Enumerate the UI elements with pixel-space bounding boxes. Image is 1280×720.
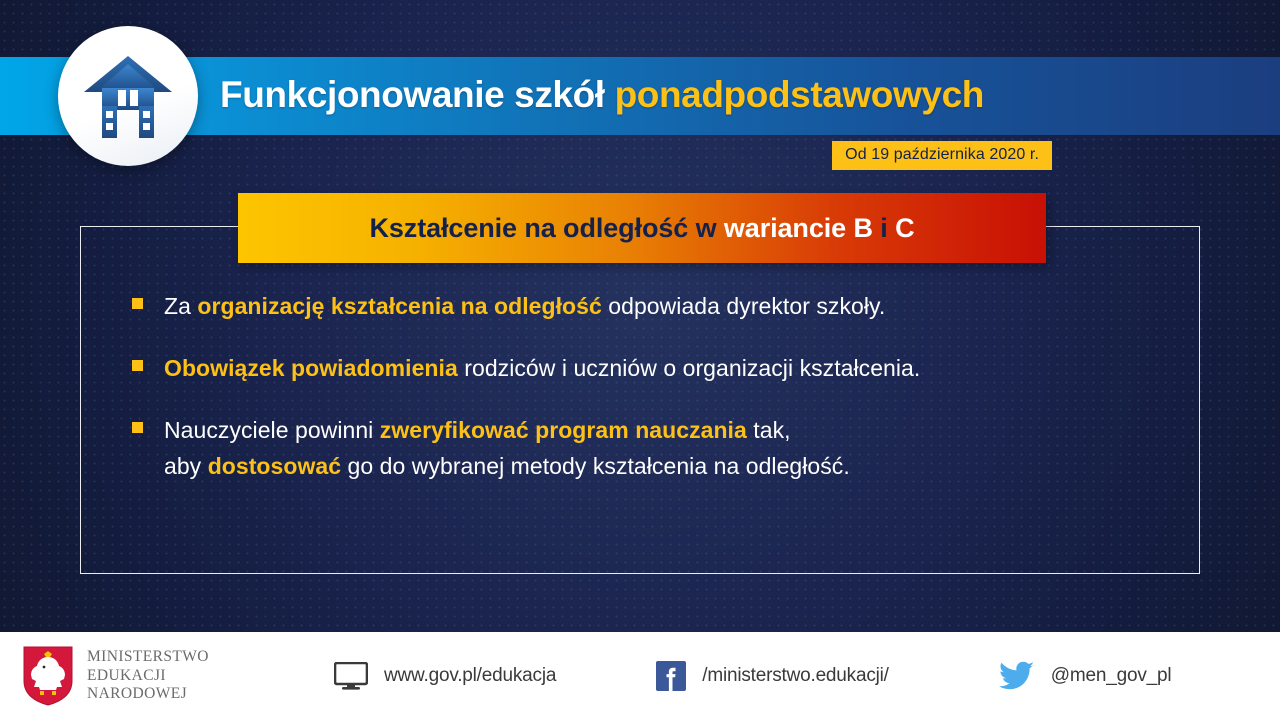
- facebook-icon: [656, 661, 686, 691]
- page-title-main: Funkcjonowanie szkół: [220, 74, 615, 115]
- twitter-icon: [999, 661, 1035, 691]
- bullet-segment: dostosować: [208, 453, 341, 479]
- page-title: Funkcjonowanie szkół ponadpodstawowych: [220, 74, 984, 116]
- subtitle-variant-c: C: [895, 213, 914, 243]
- footer: MINISTERSTWO EDUKACJI NARODOWEJ www.gov.…: [0, 632, 1280, 720]
- bullet-list: Za organizację kształcenia na odległość …: [80, 288, 1200, 510]
- footer-link-twitter-label: @men_gov_pl: [1051, 665, 1172, 687]
- bullet-segment: aby: [164, 453, 208, 479]
- bullet-item: Nauczyciele powinni zweryfikować program…: [132, 412, 1160, 484]
- footer-link-twitter[interactable]: @men_gov_pl: [999, 661, 1172, 691]
- ministry-logo: MINISTERSTWO EDUKACJI NARODOWEJ: [22, 645, 302, 707]
- square-bullet-icon: [132, 360, 143, 371]
- ministry-line-3: NARODOWEJ: [87, 685, 209, 704]
- date-badge: Od 19 października 2020 r.: [832, 141, 1052, 170]
- polish-eagle-coat-of-arms: [22, 645, 74, 707]
- footer-link-website-label: www.gov.pl/edukacja: [384, 665, 556, 687]
- bullet-segment: Obowiązek powiadomienia: [164, 355, 458, 381]
- bullet-segment: Nauczyciele powinni: [164, 417, 380, 443]
- bullet-segment: organizację kształcenia na odległość: [197, 293, 601, 319]
- bullet-text: Za organizację kształcenia na odległość …: [164, 288, 885, 324]
- bullet-segment: Za: [164, 293, 197, 319]
- school-building-icon: [58, 26, 198, 166]
- page-title-accent: ponadpodstawowych: [615, 74, 984, 115]
- footer-link-facebook-label: /ministerstwo.edukacji/: [702, 665, 889, 687]
- bullet-item: Obowiązek powiadomienia rodziców i uczni…: [132, 350, 1160, 386]
- bullet-segment: rodziców i uczniów o organizacji kształc…: [458, 355, 921, 381]
- monitor-icon: [334, 662, 368, 690]
- subtitle-variant-b: B: [853, 213, 880, 243]
- ministry-line-1: MINISTERSTWO: [87, 648, 209, 667]
- subtitle-text: Kształcenie na odległość w wariancie B i…: [369, 213, 914, 244]
- school-building-glyph: [80, 48, 176, 144]
- footer-link-facebook[interactable]: /ministerstwo.edukacji/: [656, 661, 889, 691]
- square-bullet-icon: [132, 298, 143, 309]
- bullet-segment: zweryfikować program nauczania: [380, 417, 747, 443]
- square-bullet-icon: [132, 422, 143, 433]
- bullet-text: Obowiązek powiadomienia rodziców i uczni…: [164, 350, 920, 386]
- bullet-segment: odpowiada dyrektor szkoły.: [602, 293, 885, 319]
- subtitle-banner: Kształcenie na odległość w wariancie B i…: [238, 193, 1046, 263]
- subtitle-part-2: wariancie: [724, 213, 854, 243]
- subtitle-part-1: Kształcenie na odległość w: [369, 213, 723, 243]
- subtitle-conjunction: i: [880, 213, 895, 243]
- bullet-text: Nauczyciele powinni zweryfikować program…: [164, 412, 850, 484]
- ministry-line-2: EDUKACJI: [87, 667, 209, 686]
- bullet-segment: go do wybranej metody kształcenia na odl…: [341, 453, 850, 479]
- bullet-segment: tak,: [747, 417, 791, 443]
- bullet-item: Za organizację kształcenia na odległość …: [132, 288, 1160, 324]
- ministry-logo-text: MINISTERSTWO EDUKACJI NARODOWEJ: [87, 648, 209, 704]
- footer-link-website[interactable]: www.gov.pl/edukacja: [334, 662, 556, 690]
